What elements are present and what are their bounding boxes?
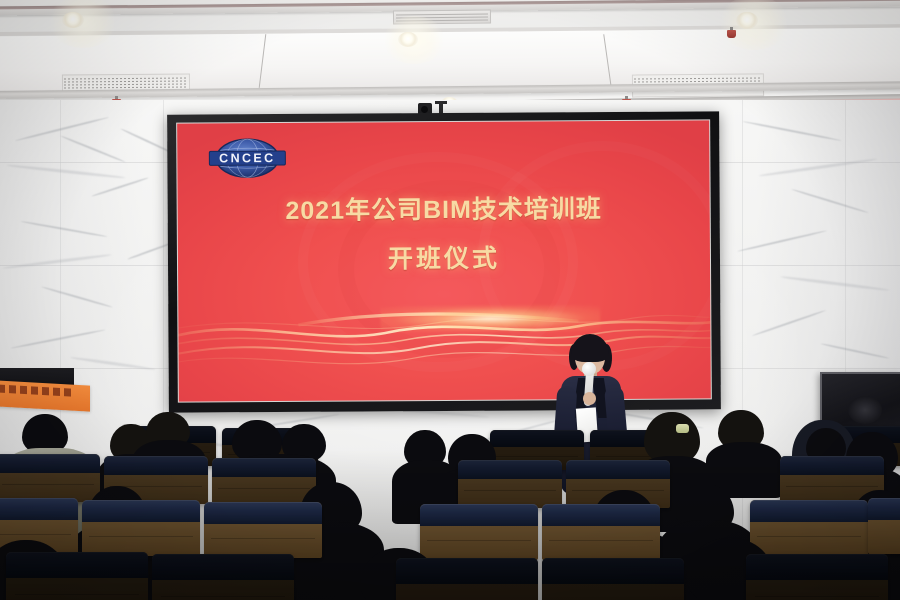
downlight-icon: [736, 12, 758, 29]
auditorium-seat: [542, 558, 684, 600]
auditorium-seat: [542, 504, 660, 560]
auditorium-seat: [396, 558, 538, 600]
auditorium-seat: [420, 504, 538, 560]
microphone-head-icon: [582, 362, 596, 376]
presentation-screen-frame: CNCEC 2021年公司BIM技术培训班 开班仪式: [167, 111, 721, 412]
cncec-logo-text: CNCEC: [219, 151, 276, 165]
auditorium-seat: [0, 454, 100, 502]
hair-clip-icon: [676, 424, 689, 433]
cncec-logo: CNCEC: [203, 137, 291, 182]
downlight-icon: [398, 32, 418, 47]
auditorium-seat: [212, 458, 316, 506]
downlight-icon: [62, 12, 84, 28]
screen-glow: [380, 305, 600, 332]
auditorium-seat: [458, 460, 562, 508]
auditorium-photo: CNCEC 2021年公司BIM技术培训班 开班仪式: [0, 0, 900, 600]
auditorium-seat: [868, 498, 900, 554]
fire-sprinkler-icon: [727, 27, 736, 38]
auditorium-seat: [204, 502, 322, 558]
screen-title-line1: 2021年公司BIM技术培训班: [178, 188, 710, 227]
auditorium-seat: [750, 500, 868, 556]
auditorium-seat: [746, 554, 888, 600]
screen-title-line2: 开班仪式: [178, 237, 710, 276]
auditorium-seat: [152, 554, 294, 600]
auditorium-seat: [6, 552, 148, 600]
audience-seating: [0, 398, 900, 600]
auditorium-seat: [82, 500, 200, 556]
ceiling: [0, 0, 900, 112]
